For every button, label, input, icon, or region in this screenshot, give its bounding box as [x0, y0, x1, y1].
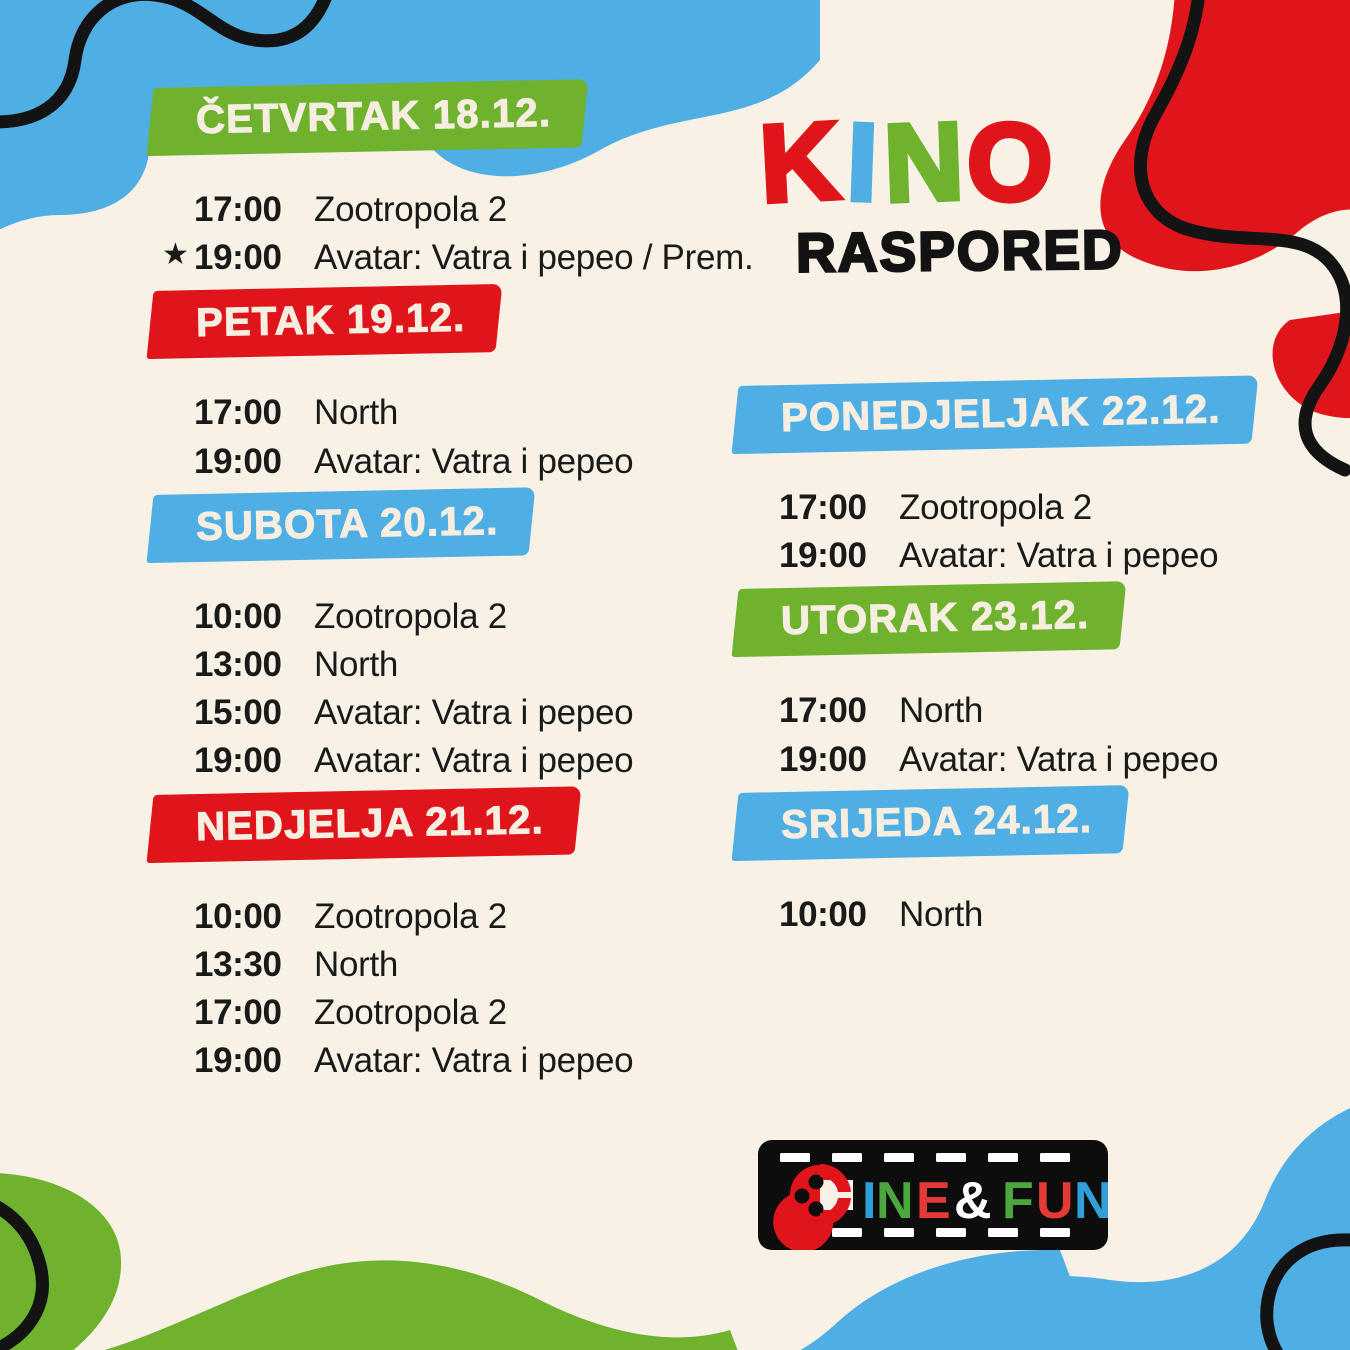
- showtime-movie-title: North: [314, 945, 398, 984]
- squiggle-bottom-left: [0, 1195, 42, 1350]
- showtime-movie-title: Avatar: Vatra i pepeo: [314, 693, 633, 732]
- day-banner[interactable]: NEDJELJA 21.12.: [147, 786, 582, 863]
- poster-title: K I N O RASPORED: [760, 112, 1124, 283]
- showtime-row[interactable]: ★17:00North: [735, 691, 1275, 730]
- premiere-star-icon: ★: [162, 240, 189, 270]
- poster-subtitle: RASPORED: [796, 217, 1124, 284]
- day-banner[interactable]: SUBOTA 20.12.: [147, 487, 536, 563]
- showtime-movie-title: Avatar: Vatra i pepeo: [314, 1041, 633, 1080]
- kino-letter-i: I: [846, 111, 880, 213]
- day-banner-label: SRIJEDA 24.12.: [781, 799, 1093, 845]
- day-banner[interactable]: PONEDJELJAK 22.12.: [732, 375, 1258, 454]
- showtime-time: 19:00: [194, 1041, 298, 1080]
- showtime-time: 19:00: [194, 741, 298, 780]
- day-banner-label: SUBOTA 20.12.: [196, 501, 499, 547]
- showtime-time: 13:00: [194, 645, 298, 684]
- showtime-time: 17:00: [194, 993, 298, 1032]
- showtime-movie-title: Zootropola 2: [314, 597, 507, 636]
- showtime-time: 10:00: [194, 597, 298, 636]
- kino-letter-o: O: [965, 110, 1055, 215]
- showtime-time: 13:30: [194, 945, 298, 984]
- showtime-row[interactable]: ★17:00Zootropola 2: [150, 190, 730, 229]
- showtime-movie-title: Zootropola 2: [314, 190, 507, 229]
- showtime-time: 17:00: [194, 190, 298, 229]
- blob-bottom-left-extra: [0, 1173, 760, 1350]
- logo-letter-i: I: [862, 1172, 876, 1230]
- logo-letter-n1: N: [876, 1172, 914, 1230]
- showtime-movie-title: Avatar: Vatra i pepeo: [899, 536, 1218, 575]
- showtime-row[interactable]: ★19:00Avatar: Vatra i pepeo: [150, 442, 730, 481]
- logo-letter-n2: N: [1074, 1172, 1108, 1230]
- kino-letter-k: K: [757, 110, 842, 215]
- day-block: ČETVRTAK 18.12.★17:00Zootropola 2★19:00A…: [150, 88, 730, 277]
- showtime-row[interactable]: ★17:00North: [150, 393, 730, 432]
- blob-bottom-right-extra: [700, 1250, 1120, 1350]
- showtime-time: 19:00: [194, 442, 298, 481]
- day-banner[interactable]: PETAK 19.12.: [147, 284, 503, 359]
- day-block: SRIJEDA 24.12.★10:00North: [735, 793, 1275, 934]
- day-block: PETAK 19.12.★17:00North★19:00Avatar: Vat…: [150, 291, 730, 480]
- showtime-row[interactable]: ★13:30North: [150, 945, 730, 984]
- showtime-row[interactable]: ★15:00Avatar: Vatra i pepeo: [150, 693, 730, 732]
- day-banner-label: PONEDJELJAK 22.12.: [781, 389, 1221, 438]
- showtime-row[interactable]: ★19:00Avatar: Vatra i pepeo: [735, 536, 1275, 575]
- day-banner-label: UTORAK 23.12.: [781, 595, 1090, 641]
- showtime-row[interactable]: ★19:00Avatar: Vatra i pepeo: [735, 740, 1275, 779]
- showtime-movie-title: North: [899, 895, 983, 934]
- showtime-row[interactable]: ★10:00North: [735, 895, 1275, 934]
- blob-top-right-extra: [1273, 300, 1350, 418]
- showtime-list: ★17:00Zootropola 2★19:00Avatar: Vatra i …: [735, 488, 1275, 575]
- showtime-row[interactable]: ★19:00Avatar: Vatra i pepeo: [150, 1041, 730, 1080]
- showtime-time: 10:00: [779, 895, 883, 934]
- day-block: NEDJELJA 21.12.★10:00Zootropola 2★13:30N…: [150, 795, 730, 1081]
- day-block: SUBOTA 20.12.★10:00Zootropola 2★13:00Nor…: [150, 495, 730, 781]
- showtime-time: 19:00: [779, 536, 883, 575]
- day-block: PONEDJELJAK 22.12.★17:00Zootropola 2★19:…: [735, 386, 1275, 575]
- showtime-time: 17:00: [194, 393, 298, 432]
- logo-letter-u: U: [1036, 1172, 1074, 1230]
- logo-letter-e: E: [916, 1172, 951, 1230]
- showtime-time: 17:00: [779, 488, 883, 527]
- cine-and-fun-logo: I N E & F U N: [758, 1140, 1108, 1250]
- day-banner[interactable]: SRIJEDA 24.12.: [732, 785, 1130, 861]
- showtime-row[interactable]: ★10:00Zootropola 2: [150, 597, 730, 636]
- showtime-list: ★10:00North: [735, 895, 1275, 934]
- schedule-column-right: PONEDJELJAK 22.12.★17:00Zootropola 2★19:…: [735, 386, 1275, 948]
- kino-raspored-poster: ČETVRTAK 18.12.★17:00Zootropola 2★19:00A…: [0, 0, 1350, 1350]
- showtime-movie-title: North: [314, 393, 398, 432]
- showtime-movie-title: Zootropola 2: [899, 488, 1092, 527]
- day-block: UTORAK 23.12.★17:00North★19:00Avatar: Va…: [735, 589, 1275, 778]
- showtime-row[interactable]: ★19:00Avatar: Vatra i pepeo / Prem.: [150, 238, 730, 277]
- showtime-movie-title: North: [314, 645, 398, 684]
- showtime-movie-title: North: [899, 691, 983, 730]
- showtime-time: 15:00: [194, 693, 298, 732]
- showtime-movie-title: Avatar: Vatra i pepeo: [899, 740, 1218, 779]
- day-banner[interactable]: ČETVRTAK 18.12.: [147, 79, 589, 156]
- kino-letter-n: N: [882, 111, 965, 215]
- logo-letter-f: F: [1002, 1172, 1034, 1230]
- showtime-time: 17:00: [779, 691, 883, 730]
- showtime-movie-title: Avatar: Vatra i pepeo / Prem.: [314, 238, 753, 277]
- day-banner[interactable]: UTORAK 23.12.: [732, 582, 1127, 658]
- showtime-row[interactable]: ★17:00Zootropola 2: [735, 488, 1275, 527]
- showtime-movie-title: Avatar: Vatra i pepeo: [314, 442, 633, 481]
- showtime-list: ★17:00Zootropola 2★19:00Avatar: Vatra i …: [150, 190, 730, 277]
- squiggle-bottom-right: [1267, 1240, 1350, 1350]
- showtime-time: 10:00: [194, 897, 298, 936]
- blob-bottom-left-shape: [0, 1205, 64, 1350]
- showtime-time: 19:00: [779, 740, 883, 779]
- showtime-movie-title: Zootropola 2: [314, 897, 507, 936]
- showtime-list: ★10:00Zootropola 2★13:00North★15:00Avata…: [150, 597, 730, 781]
- day-banner-label: PETAK 19.12.: [196, 298, 466, 343]
- showtime-movie-title: Avatar: Vatra i pepeo: [314, 741, 633, 780]
- showtime-row[interactable]: ★17:00Zootropola 2: [150, 993, 730, 1032]
- showtime-row[interactable]: ★19:00Avatar: Vatra i pepeo: [150, 741, 730, 780]
- day-banner-label: ČETVRTAK 18.12.: [196, 93, 552, 140]
- showtime-list: ★17:00North★19:00Avatar: Vatra i pepeo: [150, 393, 730, 480]
- showtime-time: 19:00: [194, 238, 298, 277]
- logo-ampersand: &: [954, 1172, 992, 1230]
- blob-top-right-shape: [1100, 0, 1350, 271]
- showtime-row[interactable]: ★13:00North: [150, 645, 730, 684]
- schedule-column-left: ČETVRTAK 18.12.★17:00Zootropola 2★19:00A…: [150, 88, 730, 1094]
- day-banner-label: NEDJELJA 21.12.: [196, 800, 545, 847]
- showtime-movie-title: Zootropola 2: [314, 993, 507, 1032]
- showtime-row[interactable]: ★10:00Zootropola 2: [150, 897, 730, 936]
- kino-wordmark: K I N O: [760, 112, 1124, 213]
- showtime-list: ★17:00North★19:00Avatar: Vatra i pepeo: [735, 691, 1275, 778]
- showtime-list: ★10:00Zootropola 2★13:30North★17:00Zootr…: [150, 897, 730, 1081]
